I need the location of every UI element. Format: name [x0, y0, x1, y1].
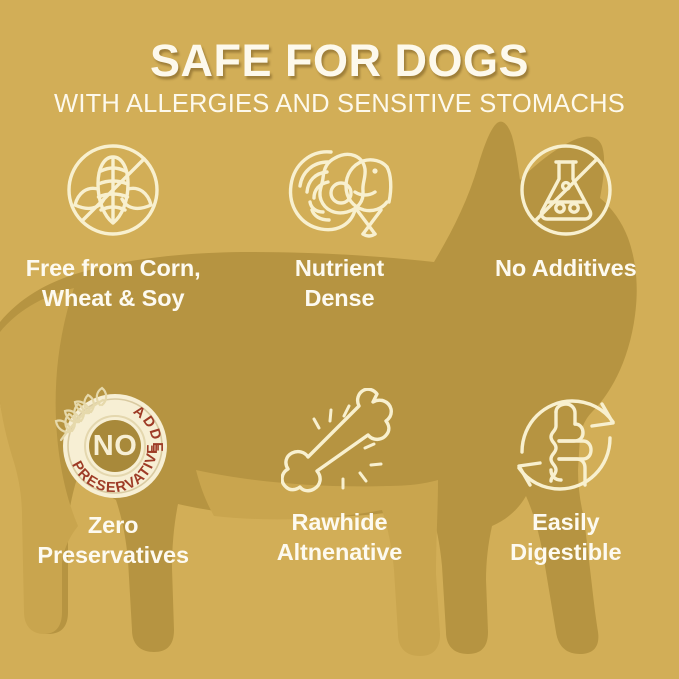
feature-label-line: Zero — [88, 512, 139, 538]
no-chemical-flask-icon — [514, 132, 618, 247]
feature-label-line: Rawhide — [292, 509, 388, 535]
feature-label-line: Wheat & Soy — [42, 285, 185, 311]
no-corn-icon — [61, 132, 165, 247]
feature-label: Zero Preservatives — [37, 511, 189, 570]
feature-grid: Free from Corn, Wheat & Soy — [0, 132, 679, 616]
feature-label: Easily Digestible — [510, 508, 621, 567]
feature-label-line: Easily — [532, 509, 599, 535]
feature-label: Rawhide Altnenative — [277, 508, 403, 567]
feature-item-rawhide-alternative: Rawhide Altnenative — [226, 386, 452, 616]
intestine-digestion-icon — [510, 386, 622, 501]
feature-item-easily-digestible: Easily Digestible — [453, 386, 679, 616]
feature-label-line: Dense — [304, 285, 374, 311]
page-title: SAFE FOR DOGS — [0, 38, 679, 83]
feature-label-line: Digestible — [510, 539, 621, 565]
feature-label-line: Preservatives — [37, 542, 189, 568]
feature-item-nutrient-dense: Nutrient Dense — [226, 132, 452, 362]
feature-item-free-from-corn: Free from Corn, Wheat & Soy — [0, 132, 226, 362]
meat-egg-fish-icon — [283, 132, 395, 247]
page-subtitle: WITH ALLERGIES AND SENSITIVE STOMACHS — [0, 92, 679, 118]
bone-sparkle-icon — [281, 386, 397, 501]
feature-item-no-additives: No Additives — [453, 132, 679, 362]
feature-label-line: Altnenative — [277, 539, 403, 565]
feature-item-zero-preservatives: NO ADDED PRESERVATIVES — [0, 386, 226, 616]
infographic-banner: SAFE FOR DOGS WITH ALLERGIES AND SENSITI… — [0, 0, 679, 679]
feature-label-line: Nutrient — [295, 255, 384, 281]
header: SAFE FOR DOGS WITH ALLERGIES AND SENSITI… — [0, 38, 679, 118]
feature-label: Free from Corn, Wheat & Soy — [26, 254, 201, 313]
feature-label-line: Free from Corn, — [26, 255, 201, 281]
no-added-preservatives-badge-icon: NO ADDED PRESERVATIVES — [51, 386, 175, 504]
feature-label-line: No Additives — [495, 255, 637, 281]
feature-label: Nutrient Dense — [295, 254, 384, 313]
badge-center-text: NO — [93, 430, 138, 462]
feature-label: No Additives — [495, 254, 637, 284]
